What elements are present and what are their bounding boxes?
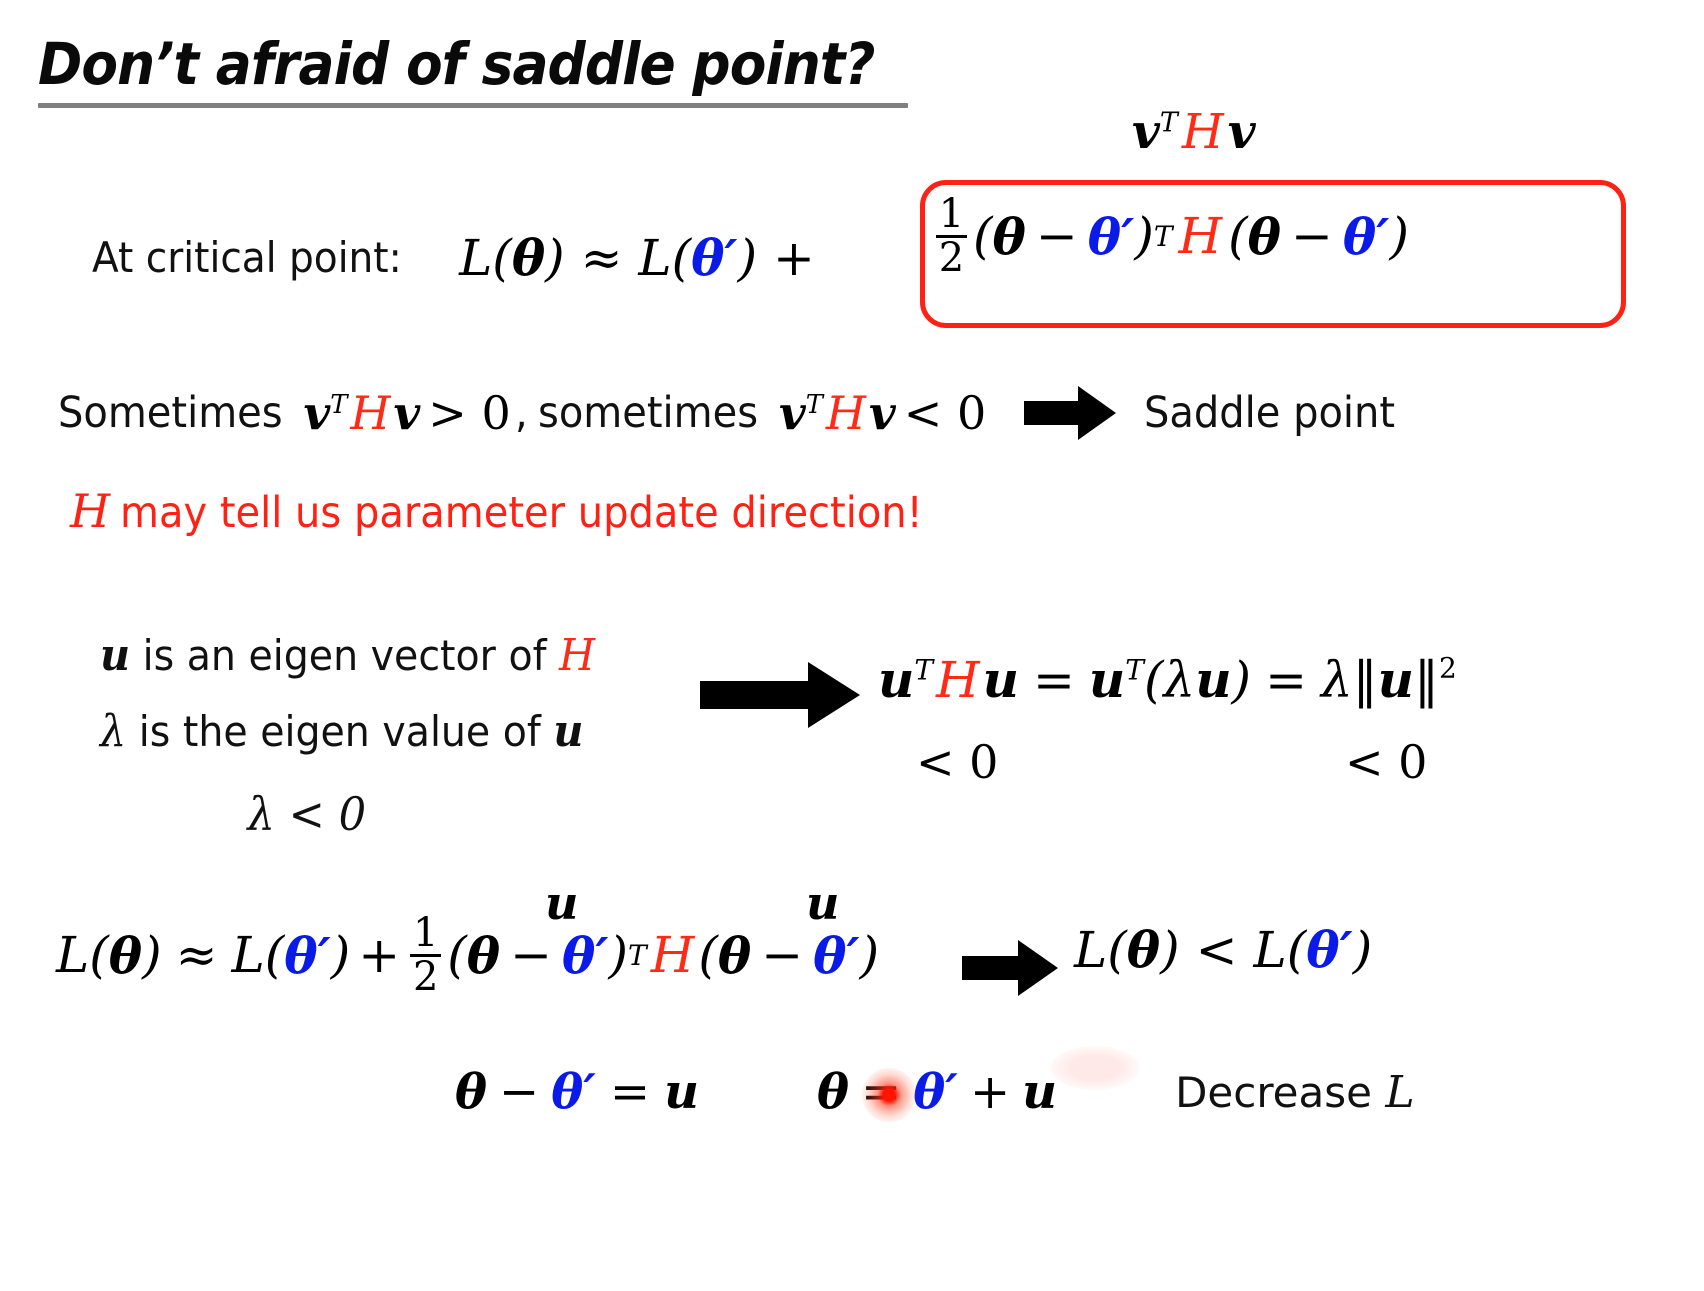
eq-u1: u	[878, 650, 914, 709]
block-arrow-right-icon-eigen	[700, 662, 860, 728]
bot-minus-1: −	[510, 926, 552, 984]
critical-point-row: At critical point: L(θ) ≈ L(θ′) +	[92, 228, 815, 287]
boxed-transpose: T	[1154, 220, 1173, 253]
boxed-hessian: H	[1179, 207, 1223, 265]
eq-paren-open: (	[1144, 651, 1164, 709]
eq-norm-open: ‖	[1353, 651, 1378, 709]
eigen-line-1: u is an eigen vector of H	[100, 618, 664, 694]
final1-minus: −	[499, 1064, 539, 1120]
paren-close-1: )	[1134, 207, 1154, 265]
boxed-theta-prime-1: θ′	[1088, 207, 1135, 266]
concl-theta-prime: θ′	[1306, 920, 1353, 979]
saddle-point-conclusion: Saddle point	[1144, 388, 1395, 438]
bot-theta-2: θ	[467, 926, 500, 985]
eigen-lambda-condition-row: λ < 0	[100, 775, 664, 854]
concl-L1: L	[1074, 921, 1107, 979]
bot-L1: L	[56, 926, 89, 984]
concl-L2: L	[1254, 921, 1287, 979]
eq-u5: u	[1378, 650, 1414, 709]
eq-equals-2: =	[1265, 651, 1307, 709]
red-statement-text: may tell us parameter update direction!	[120, 488, 923, 538]
expr2-v1: v	[779, 386, 806, 440]
eigen-lambda-symbol: λ	[100, 706, 126, 757]
bot-paren-g: (	[698, 926, 718, 984]
vhv-label: vTHv	[1132, 104, 1256, 160]
red-hessian-symbol: H	[70, 484, 110, 538]
expr2-hessian: H	[826, 386, 866, 440]
eq-norm-close: ‖	[1414, 651, 1439, 709]
eigen-annotation-right: < 0	[1345, 735, 1427, 789]
expr1-v2: v	[394, 386, 421, 440]
bot-paren-e: (	[447, 926, 467, 984]
final2-plus: +	[970, 1064, 1010, 1120]
hessian-direction-statement: H may tell us parameter update direction…	[70, 484, 983, 538]
eigen-equation: uTHu=uT(λu)=λ‖u‖2	[878, 650, 1457, 709]
bot-minus-2: −	[761, 926, 803, 984]
bot-hessian: H	[651, 926, 695, 984]
bot-paren-c: (	[265, 926, 285, 984]
theta-prime-symbol: θ′	[691, 228, 738, 287]
boxed-theta-prime-2: θ′	[1343, 207, 1390, 266]
bot-paren-f: )	[609, 926, 629, 984]
critical-point-equation: L(θ) ≈ L(θ′) +	[459, 228, 815, 287]
paren-open-1: (	[973, 207, 993, 265]
theta-symbol: θ	[512, 228, 545, 287]
eq-power: 2	[1439, 651, 1457, 684]
sometimes-comma: ,	[515, 388, 528, 438]
eigen-definition-block: u is an eigen vector of H λ is the eigen…	[100, 618, 700, 854]
final-note-text: Decrease	[1175, 1068, 1372, 1117]
concl-theta: θ	[1127, 920, 1160, 979]
boxed-minus-1: −	[1036, 207, 1078, 265]
bottom-one-half-fraction: 1 2	[410, 915, 441, 996]
eq-paren-close: )	[1232, 651, 1252, 709]
eigen-line-1-text: is an eigen vector of	[143, 631, 547, 680]
bot-theta-1: θ	[109, 926, 142, 985]
boxed-theta-1: θ	[993, 207, 1026, 266]
sometimes-compare-2: < 0	[904, 386, 986, 440]
eq-u3: u	[1089, 650, 1125, 709]
paren-open-2: (	[1228, 207, 1248, 265]
final2-equals: =	[861, 1064, 901, 1120]
eq-u4: u	[1195, 650, 1231, 709]
final2-theta: θ	[817, 1064, 849, 1120]
concl-paren-b: )	[1160, 921, 1180, 979]
expr1-hessian: H	[350, 386, 390, 440]
bot-approx: ≈	[176, 926, 218, 984]
expr2-v2: v	[869, 386, 896, 440]
approx-part: ) ≈ L(	[545, 229, 691, 287]
final-note: Decrease L	[1175, 1067, 1415, 1118]
bot-L2: L	[232, 926, 265, 984]
fraction-denominator: 2	[939, 240, 964, 277]
sometimes-word-1: Sometimes	[58, 388, 283, 438]
one-half-fraction: 1 2	[936, 196, 967, 277]
final2-theta-prime: θ′	[913, 1064, 958, 1120]
title-underline-rule	[38, 103, 908, 108]
sometimes-expr-2: vTHv	[779, 386, 896, 440]
critical-point-label: At critical point:	[92, 233, 402, 282]
bottom-taylor-equation: L(θ)≈L(θ′)+ 1 2 (θ−θ′)TH(θ−θ′)	[56, 915, 879, 996]
eigen-hessian-symbol: H	[559, 630, 595, 681]
eigen-vector-symbol-2: u	[553, 706, 583, 757]
eq-lambda: λ	[1163, 651, 1195, 709]
sometimes-word-2: sometimes	[538, 388, 758, 438]
expr2-transpose: T	[806, 390, 823, 420]
final-note-symbol: L	[1385, 1067, 1414, 1118]
eigen-line-2-text: is the eigen value of	[139, 707, 541, 756]
final-item-update: θ=θ′+u	[817, 1064, 1057, 1120]
eigen-line-2: λ is the eigen value of u	[100, 694, 664, 770]
bot-theta-prime-2: θ′	[562, 926, 609, 985]
final1-theta: θ	[455, 1064, 487, 1120]
bot-paren-a: (	[89, 926, 109, 984]
page-title: Don’t afraid of saddle point?	[38, 34, 998, 108]
vhv-hessian: H	[1182, 104, 1224, 160]
concl-paren-c: (	[1287, 921, 1307, 979]
bot-frac-den: 2	[413, 959, 438, 996]
title-text: Don’t afraid of saddle point?	[38, 34, 921, 95]
bot-theta-prime-3: θ′	[813, 926, 860, 985]
slide-canvas: Don’t afraid of saddle point? vTHv At cr…	[0, 0, 1704, 1291]
concl-lt: <	[1196, 921, 1238, 979]
final-update-row: θ−θ′=u θ=θ′+u Decrease L	[455, 1064, 1415, 1120]
bot-plus: +	[358, 926, 400, 984]
eigen-annotation-left: < 0	[916, 735, 998, 789]
final-item-difference: θ−θ′=u	[455, 1064, 699, 1120]
block-arrow-right-icon	[1024, 386, 1116, 440]
vhv-v2: v	[1228, 104, 1256, 160]
final1-theta-prime: θ′	[551, 1064, 596, 1120]
eq-transpose-2: T	[1125, 654, 1144, 687]
sometimes-compare-1: > 0	[428, 386, 510, 440]
bot-paren-h: )	[860, 926, 880, 984]
eq-u2: u	[983, 650, 1019, 709]
final2-u: u	[1022, 1064, 1057, 1120]
bot-paren-d: )	[331, 926, 351, 984]
eigen-vector-symbol: u	[100, 630, 130, 681]
bot-frac-num: 1	[413, 915, 438, 952]
concl-paren-d: )	[1353, 921, 1373, 979]
L-symbol: L(	[459, 229, 512, 287]
eigen-lambda-condition: λ < 0	[247, 787, 366, 841]
bot-theta-3: θ	[718, 926, 751, 985]
bot-paren-b: )	[142, 926, 162, 984]
plus-part: ) +	[738, 229, 815, 287]
eq-lambda-2: λ	[1321, 651, 1353, 709]
concl-paren-a: (	[1107, 921, 1127, 979]
vhv-transpose: T	[1160, 107, 1178, 138]
eq-equals-1: =	[1033, 651, 1075, 709]
final1-equals: =	[610, 1064, 650, 1120]
sometimes-row: Sometimes vTHv > 0 , sometimes vTHv < 0 …	[58, 386, 1414, 440]
boxed-quadratic-term: 1 2 (θ−θ′)TH(θ−θ′)	[934, 196, 1409, 277]
block-arrow-right-icon-bottom	[962, 940, 1058, 996]
expr1-transpose: T	[330, 390, 347, 420]
final1-u: u	[664, 1064, 699, 1120]
eq-hessian: H	[936, 651, 980, 709]
boxed-theta-2: θ	[1248, 207, 1281, 266]
boxed-minus-2: −	[1291, 207, 1333, 265]
paren-close-2: )	[1389, 207, 1409, 265]
eq-transpose-1: T	[914, 654, 933, 687]
bottom-conclusion: L(θ)<L(θ′)	[1074, 920, 1372, 979]
expr1-v1: v	[304, 386, 331, 440]
fraction-numerator: 1	[939, 196, 964, 233]
vhv-v1: v	[1132, 104, 1160, 160]
sometimes-expr-1: vTHv	[304, 386, 421, 440]
bot-transpose: T	[628, 939, 647, 972]
bot-theta-prime-1: θ′	[284, 926, 331, 985]
